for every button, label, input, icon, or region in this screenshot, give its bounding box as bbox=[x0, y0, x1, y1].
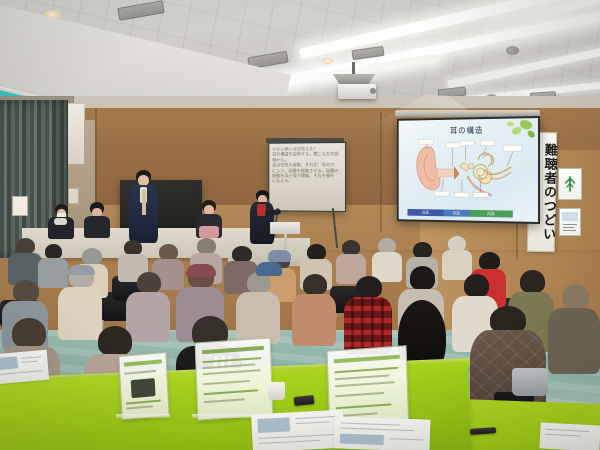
handout-line bbox=[340, 423, 400, 426]
projected-slide: 耳の構造 bbox=[399, 118, 538, 222]
handout-line bbox=[296, 421, 330, 424]
flyer2-header bbox=[202, 346, 264, 354]
handout-1[interactable] bbox=[251, 410, 345, 450]
handout-line bbox=[545, 434, 581, 437]
handout-left[interactable] bbox=[0, 350, 49, 385]
handout-2[interactable] bbox=[333, 416, 430, 450]
audience-hair bbox=[303, 274, 327, 295]
legend-middle-ear: 中耳 bbox=[443, 210, 469, 217]
info-poster-line-1 bbox=[563, 224, 577, 225]
staff3-pink-accent bbox=[199, 226, 219, 238]
projector-lens-icon bbox=[370, 88, 376, 94]
handout-image bbox=[0, 356, 18, 370]
audience-hair bbox=[45, 244, 62, 259]
legend-inner-ear: 内耳 bbox=[469, 210, 513, 218]
handout-line bbox=[340, 428, 414, 432]
flyer1-photo bbox=[131, 378, 156, 398]
ceiling-speaker-1 bbox=[506, 46, 519, 55]
standing-presenter bbox=[126, 170, 160, 246]
caption-surface: 小さい赤い点が見える？ 耳の構造を説明する。聞こえ方の説 明から。 音は空気の振… bbox=[269, 143, 345, 211]
audience-headband bbox=[68, 265, 95, 275]
wood-seam-2 bbox=[380, 112, 382, 232]
handout-line bbox=[258, 434, 336, 439]
handout-line bbox=[295, 416, 335, 419]
audience-hair bbox=[16, 238, 35, 254]
handout-line bbox=[21, 356, 41, 359]
audience-member bbox=[548, 284, 600, 374]
presenter-laptop bbox=[270, 222, 300, 234]
flyer2-line bbox=[202, 357, 261, 363]
handout-line bbox=[0, 370, 42, 375]
audience-hair bbox=[307, 244, 326, 260]
audience-hair bbox=[413, 242, 432, 258]
audience-hair bbox=[562, 284, 589, 309]
staff-seated-2 bbox=[84, 202, 110, 238]
flyer3-header bbox=[334, 355, 400, 364]
flyer2-line bbox=[203, 389, 258, 394]
flyer3-line bbox=[335, 367, 399, 373]
flyer-stand-base-1 bbox=[116, 414, 170, 418]
flyer3-line bbox=[335, 374, 390, 379]
audience-hair bbox=[197, 238, 216, 254]
flyer1-header bbox=[123, 359, 162, 366]
flyer2-line bbox=[203, 369, 261, 375]
flyer3-line bbox=[336, 403, 392, 408]
audience-member bbox=[248, 262, 288, 302]
downlight-3 bbox=[322, 58, 333, 64]
paper-cup bbox=[268, 382, 285, 400]
audience-body bbox=[292, 294, 336, 346]
staff1-scarf bbox=[54, 218, 67, 225]
main-projection-screen: 耳の構造 bbox=[397, 116, 540, 224]
handout-line bbox=[259, 440, 321, 444]
audience-hair bbox=[356, 276, 382, 298]
ear-anatomy-diagram bbox=[411, 136, 524, 202]
flyer2-line bbox=[203, 380, 250, 385]
handout-image bbox=[257, 417, 290, 433]
photo-scene: 難聴者のつどい 耳の構造 bbox=[0, 0, 600, 450]
audience-body bbox=[548, 308, 600, 374]
audience-hat bbox=[268, 250, 291, 262]
handout-3[interactable] bbox=[539, 422, 600, 450]
audience-hair bbox=[342, 240, 360, 255]
staff2-top bbox=[84, 216, 110, 238]
ear-mark-icon bbox=[559, 169, 581, 199]
info-poster bbox=[559, 208, 581, 236]
flyer1-line bbox=[124, 370, 156, 374]
audience-hair bbox=[378, 238, 396, 253]
audience-hair bbox=[124, 240, 142, 255]
flyer2-line bbox=[204, 398, 245, 402]
audience-beret bbox=[186, 264, 216, 277]
caption-text: 小さい赤い点が見える？ 耳の構造を説明する。聞こえ方の説 明から。 音は空気の振… bbox=[272, 146, 342, 184]
handout-line bbox=[545, 429, 589, 432]
caption-screen: 小さい赤い点が見える？ 耳の構造を説明する。聞こえ方の説 明から。 音は空気の振… bbox=[268, 142, 346, 212]
flyer3-line bbox=[335, 381, 394, 387]
handout-image bbox=[340, 434, 384, 446]
flyer1-line bbox=[126, 405, 154, 409]
audience-hair bbox=[12, 318, 46, 348]
floor-bag-light bbox=[512, 368, 548, 396]
flyer2-line bbox=[202, 363, 255, 368]
wall-switch-plate bbox=[68, 188, 79, 204]
audience-hair bbox=[82, 248, 102, 265]
audience-hair bbox=[13, 280, 39, 302]
audience-member bbox=[292, 274, 336, 346]
flyer-stand-1[interactable] bbox=[118, 352, 169, 420]
audience-hair bbox=[159, 244, 178, 260]
audience-hair bbox=[479, 252, 500, 270]
audience-hair bbox=[98, 326, 132, 356]
ear-mark-poster bbox=[558, 168, 582, 200]
flyer3-line bbox=[335, 392, 383, 397]
handout-line bbox=[22, 361, 38, 364]
staff-seated-1 bbox=[48, 204, 74, 238]
audience-hair bbox=[410, 266, 435, 290]
info-poster-band bbox=[562, 212, 578, 221]
presenter-tie bbox=[142, 189, 146, 215]
audience-cap bbox=[256, 262, 282, 276]
info-poster-line-2 bbox=[563, 227, 574, 228]
info-poster-line-3 bbox=[563, 230, 576, 231]
flyer1-line bbox=[126, 400, 161, 405]
audience-hair bbox=[520, 270, 545, 293]
legend-outer-ear: 外耳 bbox=[408, 209, 444, 216]
staff-seated-3 bbox=[196, 200, 222, 238]
audience-hair bbox=[448, 236, 466, 251]
flyer-stand-2[interactable] bbox=[195, 337, 274, 420]
handout-line bbox=[390, 438, 424, 440]
audience-member bbox=[8, 238, 42, 284]
wall-notice-left bbox=[12, 196, 28, 216]
audience-hair bbox=[137, 272, 161, 293]
audience-hair bbox=[232, 246, 252, 262]
